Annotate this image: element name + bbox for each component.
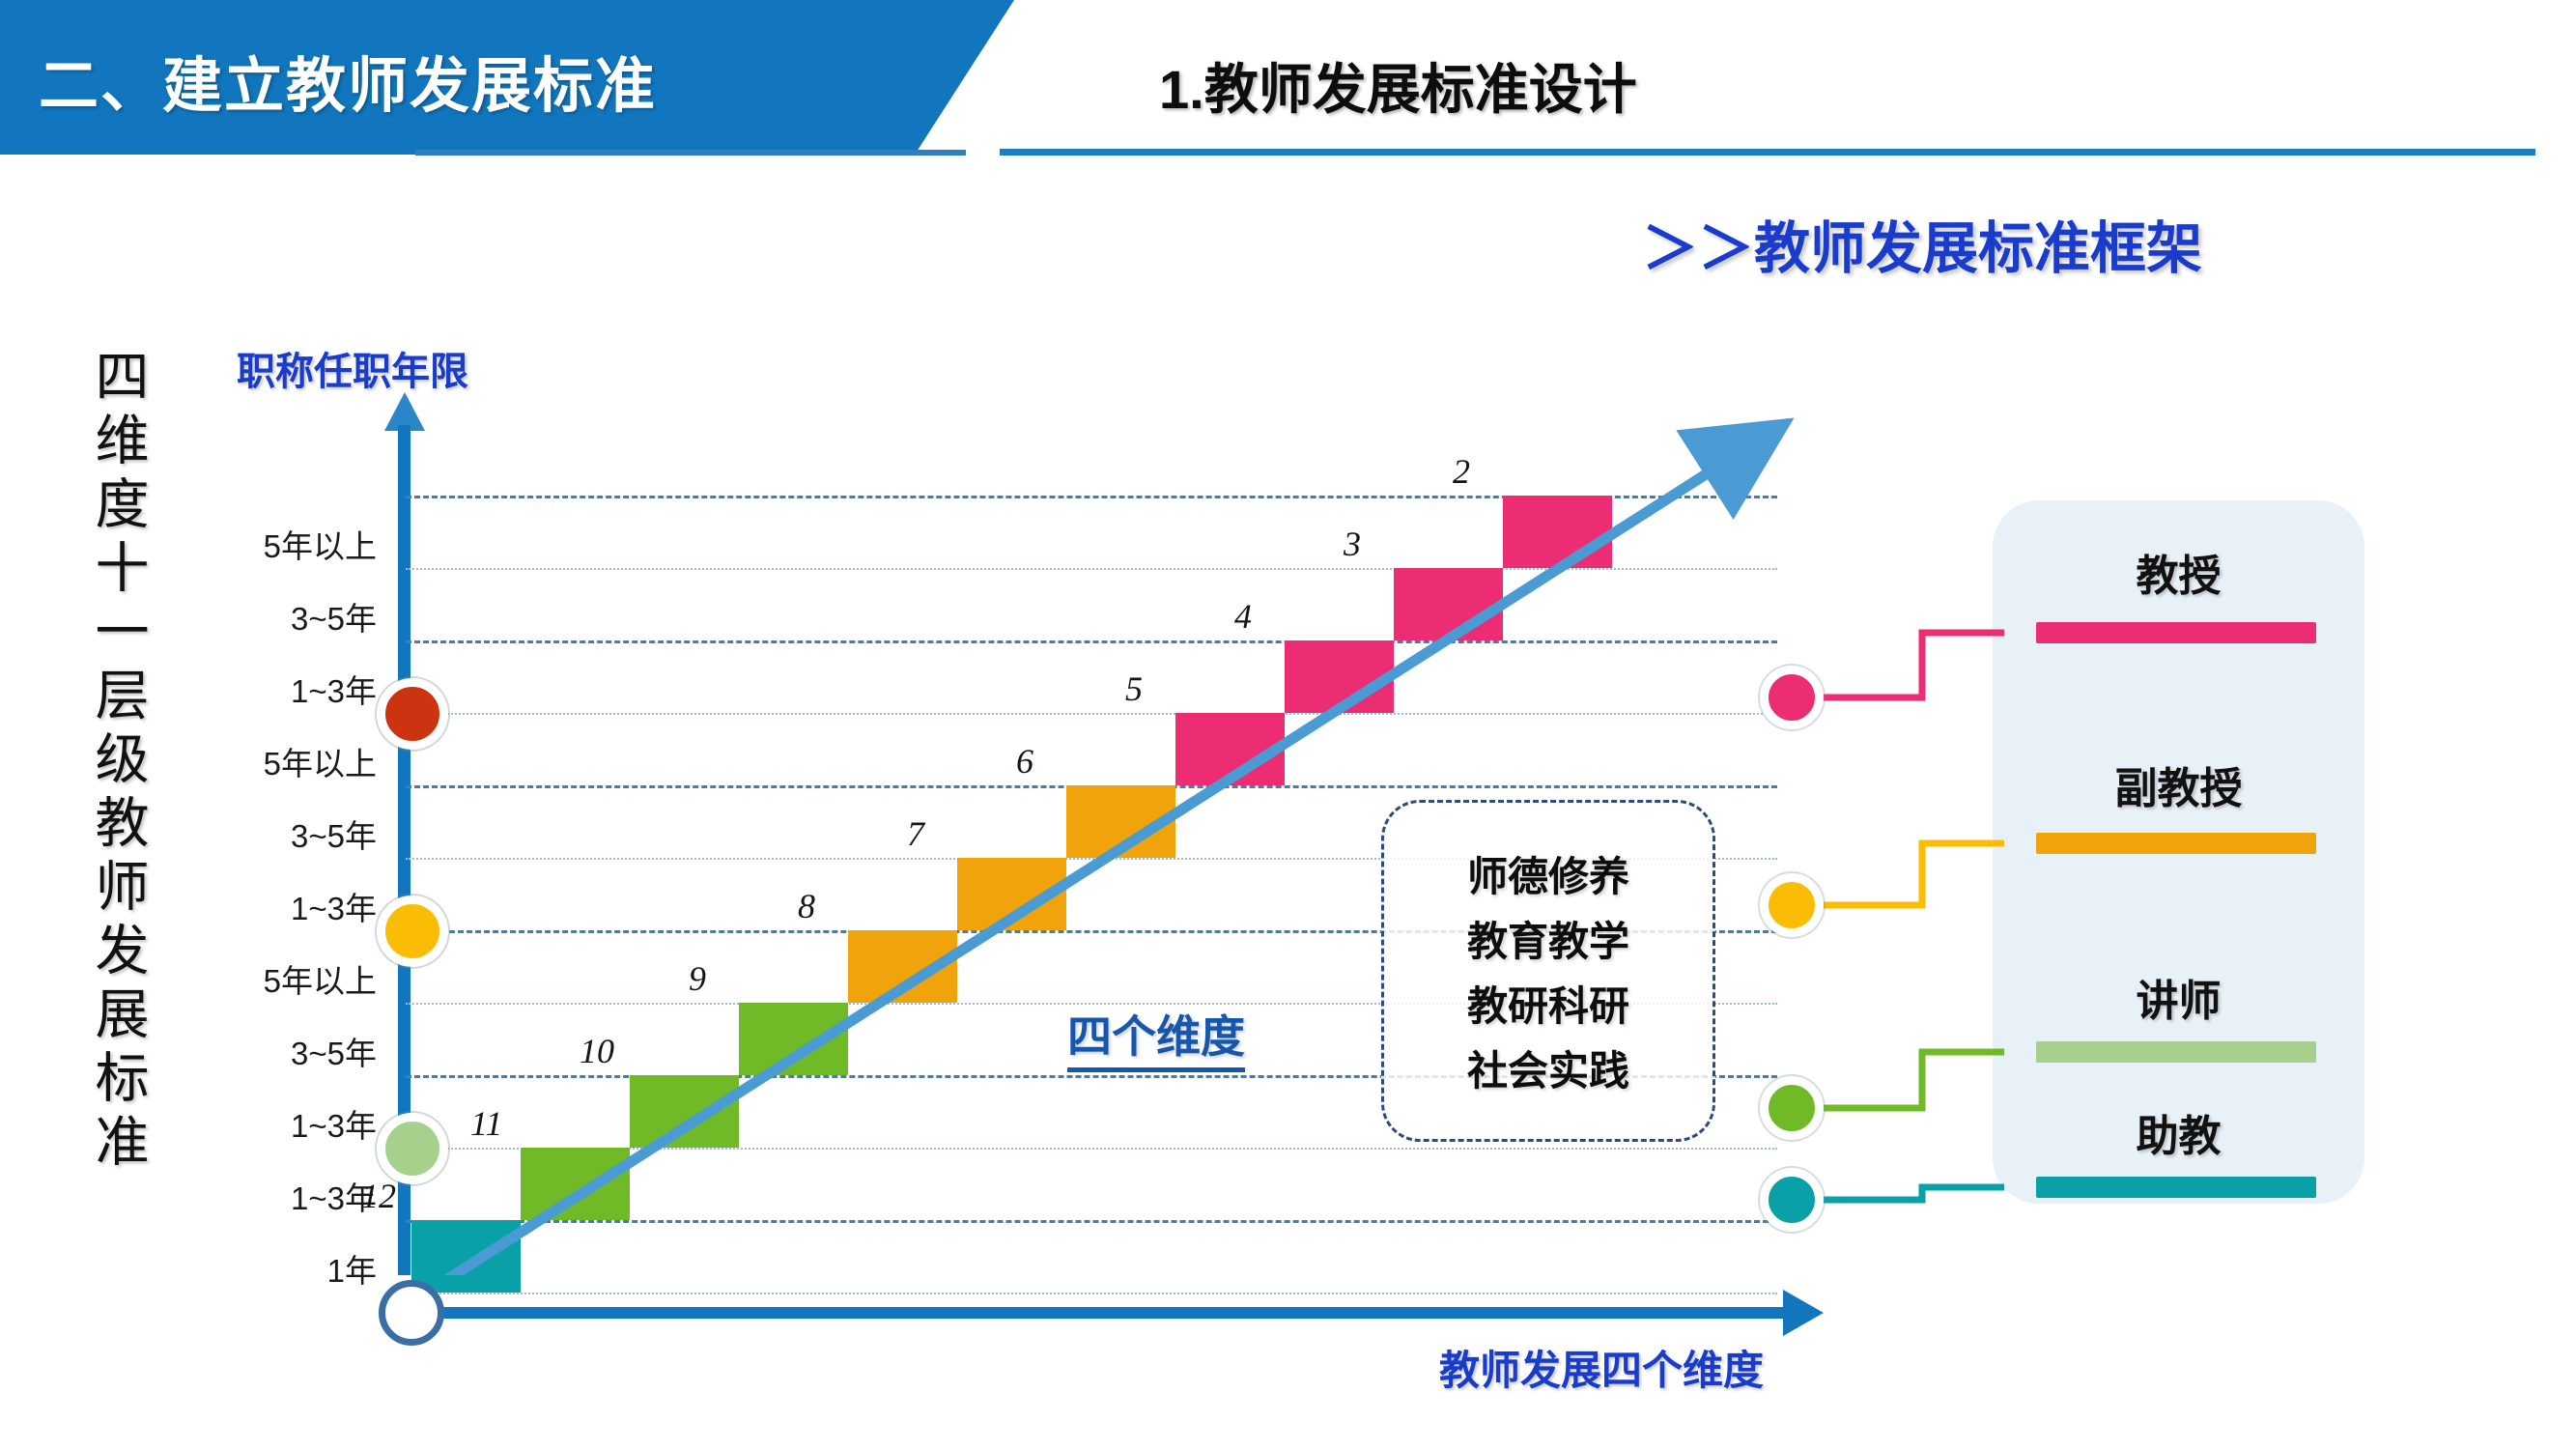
staircase-step — [1066, 785, 1175, 858]
step-label: 6 — [1016, 741, 1033, 782]
y-tick-label: 5年以上 — [184, 521, 377, 567]
y-tick-label: 1~3年 — [184, 666, 377, 712]
staircase-step — [848, 930, 957, 1003]
y-tick-label: 1年 — [184, 1245, 377, 1292]
dimension-item: 师德修养 — [1467, 844, 1629, 903]
y-tick-label: 1~3年 — [184, 883, 377, 929]
gridline — [406, 1293, 1777, 1294]
staircase-step — [739, 1003, 848, 1075]
page-title: 二、建立教师发展标准 — [39, 37, 657, 124]
x-axis-title: 教师发展四个维度 — [1439, 1338, 1764, 1397]
framework-heading: ＞＞教师发展标准框架 — [1642, 203, 2202, 284]
staircase-step — [411, 1220, 521, 1293]
rank-side-dot — [1760, 666, 1824, 729]
rank-name: 助教 — [1993, 1101, 2364, 1163]
gridline — [406, 568, 1777, 570]
gridline — [406, 713, 1777, 715]
dimension-item: 社会实践 — [1467, 1038, 1629, 1097]
y-tick-label: 5年以上 — [184, 955, 377, 1002]
rank-side-dot — [1760, 1076, 1824, 1140]
step-label: 11 — [470, 1103, 502, 1144]
vertical-side-label: 四维度十一层级教师发展标准 — [56, 348, 145, 1177]
rank-side-dot — [1760, 873, 1824, 937]
header-underline-right — [1000, 149, 2535, 156]
y-tick-label: 3~5年 — [184, 593, 377, 640]
rank-name: 讲师 — [1993, 966, 2364, 1028]
rank-color-bar — [2036, 833, 2316, 854]
step-label: 4 — [1234, 596, 1252, 637]
rank-name: 副教授 — [1993, 753, 2364, 815]
staircase-step — [1503, 496, 1612, 568]
y-tick-label: 3~5年 — [184, 1028, 377, 1074]
step-label: 9 — [689, 958, 706, 999]
step-label: 10 — [580, 1031, 614, 1071]
gridline — [406, 1220, 1777, 1223]
staircase-step — [1285, 640, 1394, 713]
origin-marker — [379, 1280, 444, 1346]
y-axis-title: 职称任职年限 — [237, 340, 468, 396]
step-label: 12 — [361, 1176, 396, 1216]
step-label: 7 — [907, 813, 924, 854]
x-axis-line — [406, 1307, 1787, 1319]
rank-side-dot — [1760, 1168, 1824, 1232]
rank-name: 教授 — [1993, 541, 2364, 603]
milestone-dot — [377, 678, 448, 750]
staircase-step — [1175, 713, 1285, 785]
dimension-item: 教研科研 — [1467, 974, 1629, 1033]
y-tick-label: 1~3年 — [184, 1100, 377, 1147]
subsection-title: 1.教师发展标准设计 — [1159, 46, 1637, 125]
dimensions-box: 师德修养 教育教学 教研科研 社会实践 — [1381, 800, 1715, 1142]
header-underline-left — [415, 150, 966, 156]
gridline — [406, 640, 1777, 643]
dimension-item: 教育教学 — [1467, 909, 1629, 968]
milestone-dot — [377, 896, 448, 967]
staircase-step — [957, 858, 1066, 930]
staircase-step — [630, 1075, 739, 1148]
staircase-step — [1394, 568, 1503, 640]
rank-legend-panel: 教授副教授讲师助教 — [1993, 500, 2364, 1204]
step-label: 3 — [1344, 524, 1361, 564]
y-tick-label: 1~3年 — [184, 1173, 377, 1219]
rank-color-bar — [2036, 1041, 2316, 1063]
step-label: 5 — [1125, 668, 1143, 709]
rank-color-bar — [2036, 622, 2316, 643]
y-tick-label: 5年以上 — [184, 738, 377, 784]
four-dimensions-label: 四个维度 — [1067, 1002, 1245, 1072]
step-label: 2 — [1453, 451, 1470, 492]
y-tick-label: 3~5年 — [184, 810, 377, 857]
step-label: 8 — [798, 886, 815, 926]
rank-color-bar — [2036, 1177, 2316, 1198]
x-axis-arrow-icon — [1783, 1290, 1824, 1336]
milestone-dot — [377, 1113, 448, 1184]
staircase-step — [521, 1148, 630, 1220]
